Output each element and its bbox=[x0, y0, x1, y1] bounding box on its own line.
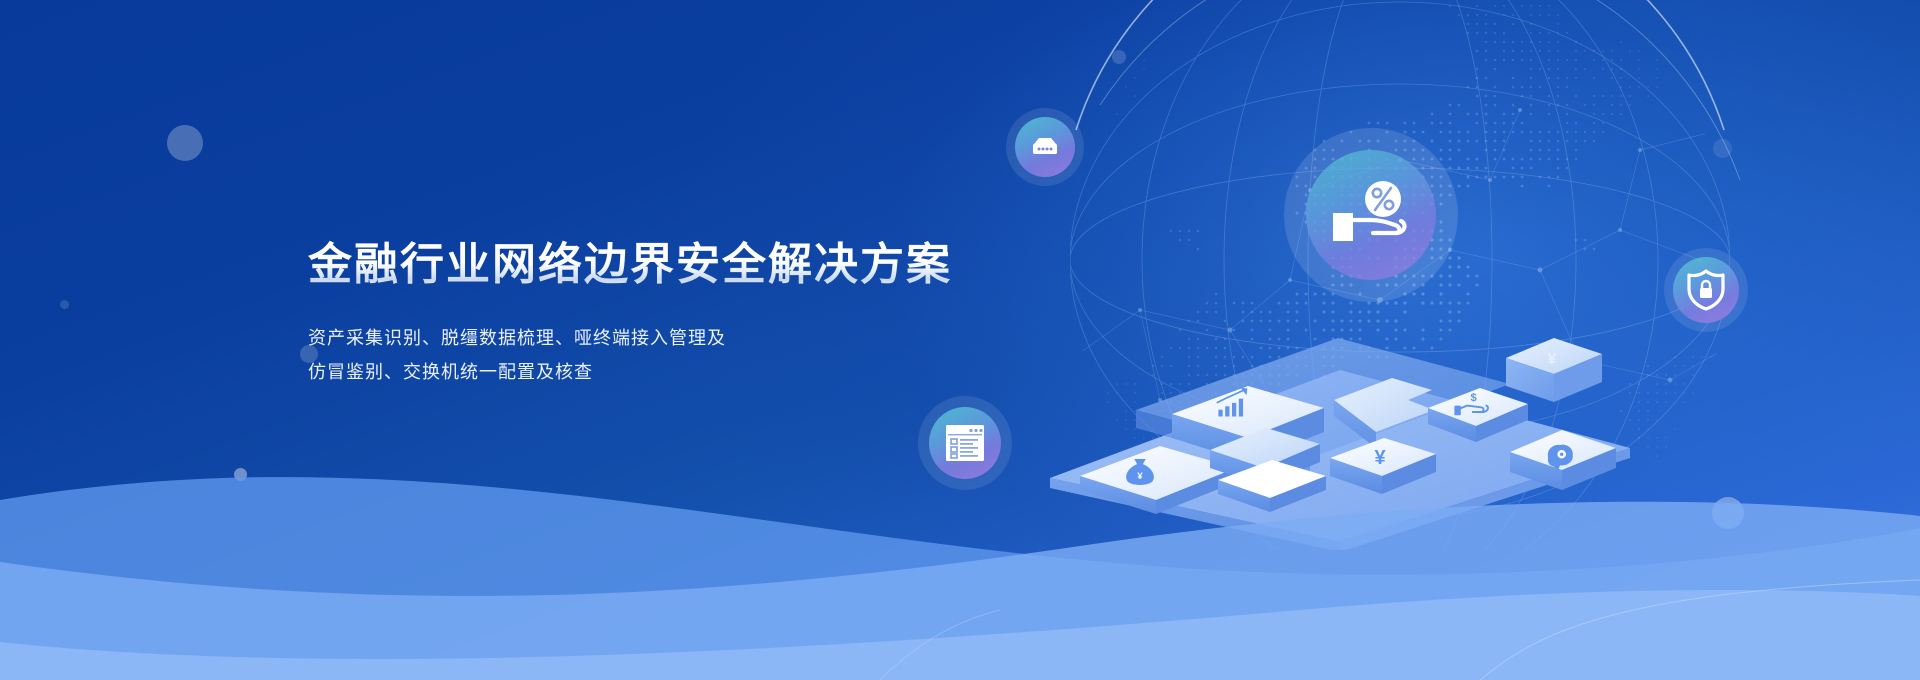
subtitle-line-2: 仿冒鉴别、交换机统一配置及核查 bbox=[308, 355, 1068, 389]
subtitle-line-1: 资产采集识别、脱缰数据梳理、哑终端接入管理及 bbox=[308, 321, 1068, 355]
badge-hand-percent bbox=[1284, 128, 1458, 302]
decor-dot bbox=[167, 125, 203, 161]
hand-percent-icon bbox=[1325, 175, 1417, 255]
hero-subtitle: 资产采集识别、脱缰数据梳理、哑终端接入管理及 仿冒鉴别、交换机统一配置及核查 bbox=[308, 321, 1068, 389]
document-list-icon bbox=[941, 420, 989, 466]
network-switch-icon bbox=[1025, 127, 1065, 167]
shield-lock-icon bbox=[1684, 267, 1728, 313]
decor-dot bbox=[60, 300, 69, 309]
decor-dot bbox=[1112, 50, 1126, 64]
banner-hero: ¥ bbox=[0, 0, 1920, 680]
hero-text-block: 金融行业网络边界安全解决方案 资产采集识别、脱缰数据梳理、哑终端接入管理及 仿冒… bbox=[308, 240, 1068, 389]
badge-shield-lock bbox=[1664, 248, 1748, 332]
svg-text:¥: ¥ bbox=[1548, 351, 1557, 368]
page-title: 金融行业网络边界安全解决方案 bbox=[308, 240, 1068, 291]
decor-dot bbox=[1713, 139, 1732, 158]
badge-network-switch bbox=[1006, 108, 1084, 186]
